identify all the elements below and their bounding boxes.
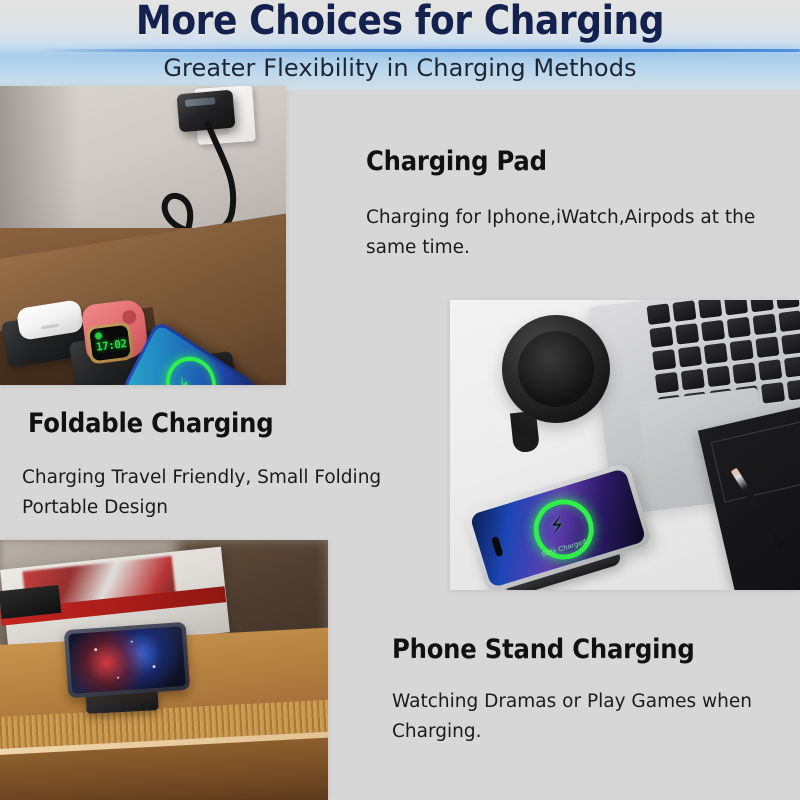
coffee-mug [502, 315, 610, 423]
page-subtitle: Greater Flexibility in Charging Methods [0, 54, 800, 82]
feature-block-foldable-charging: Foldable Charging Charging Travel Friend… [22, 408, 442, 523]
marketing-page: More Choices for Charging Greater Flexib… [0, 0, 800, 800]
screen-spark [94, 648, 97, 651]
feature-heading-foldable-charging: Foldable Charging [28, 408, 442, 439]
feature-block-phone-stand: Phone Stand Charging Watching Dramas or … [392, 634, 782, 747]
feature-body-phone-stand: Watching Dramas or Play Games when Charg… [392, 687, 782, 747]
feature-block-charging-pad: Charging Pad Charging for Iphone,iWatch,… [366, 146, 766, 263]
screen-spark [153, 665, 156, 668]
photo-charging-pad: 17:02 ⚡ [0, 86, 286, 385]
phone-notch [491, 536, 504, 557]
iphone-on-stand [64, 622, 190, 698]
screen-spark [117, 676, 119, 678]
watch-screen: 17:02 [89, 325, 131, 361]
iphone-screen-stand [68, 626, 186, 694]
apple-watch: 17:02 [86, 321, 134, 364]
feature-heading-phone-stand: Phone Stand Charging [392, 634, 782, 665]
photo-phone-stand [0, 540, 328, 800]
watch-charge-indicator-icon [95, 332, 103, 340]
watch-time-display: 17:02 [95, 337, 128, 354]
divider-rule [40, 49, 800, 52]
page-title: More Choices for Charging [0, 0, 800, 44]
feature-body-charging-pad: Charging for Iphone,iWatch,Airpods at th… [366, 203, 766, 263]
screen-spark [130, 640, 132, 642]
header-banner: More Choices for Charging Greater Flexib… [0, 0, 800, 90]
photo-desk-flatlay: ⚡ 50% Charged [450, 300, 800, 590]
feature-heading-charging-pad: Charging Pad [366, 146, 766, 177]
feature-body-foldable-charging: Charging Travel Friendly, Small Folding … [22, 463, 442, 523]
